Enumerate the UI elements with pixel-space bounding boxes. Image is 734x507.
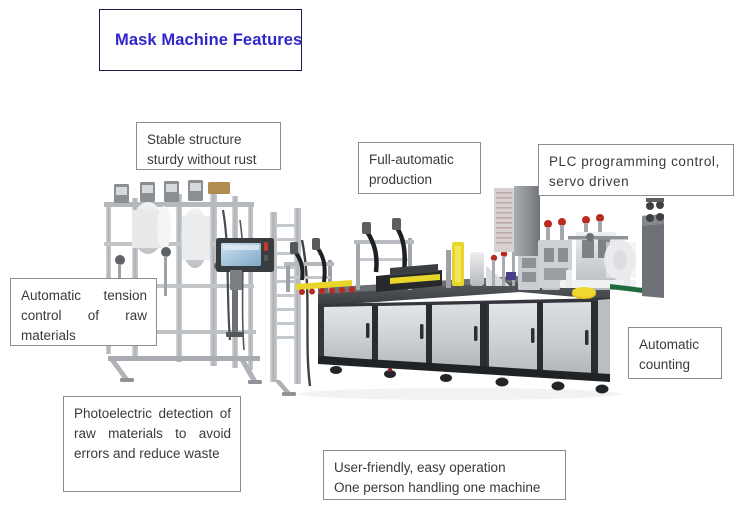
callout-photoelectric-detection: Photoelectric detection of raw materials… (63, 396, 241, 492)
callout-line: Automatic (639, 335, 712, 355)
welding-unit (538, 198, 664, 299)
callout-line: Photoelectric detection of raw materials… (74, 404, 231, 464)
callout-line: servo driven (549, 172, 724, 192)
callout-line: Automatic tension control of raw materia… (21, 286, 147, 346)
callout-automatic-tension: Automatic tension control of raw materia… (10, 278, 157, 346)
callout-user-friendly: User-friendly, easy operation One person… (323, 450, 566, 500)
machine-photo (90, 180, 670, 410)
callout-line: production (369, 170, 471, 190)
callout-line: User-friendly, easy operation (334, 458, 556, 478)
slide-canvas: Mask Machine Features (0, 0, 734, 507)
callout-full-automatic: Full-automatic production (358, 142, 481, 194)
callout-line: sturdy without rust (147, 150, 271, 170)
control-tower (494, 186, 540, 256)
callout-line: counting (639, 355, 712, 375)
callout-line: PLC programming control, (549, 152, 724, 172)
callout-stable-structure: Stable structure sturdy without rust (136, 122, 281, 170)
callout-line: One person handling one machine (334, 478, 556, 498)
callout-line: Full-automatic (369, 150, 471, 170)
callout-line: Stable structure (147, 130, 271, 150)
callout-plc-control: PLC programming control, servo driven (538, 144, 734, 196)
page-title: Mask Machine Features (115, 30, 302, 50)
ladder-frame (270, 208, 310, 396)
title-box: Mask Machine Features (99, 9, 302, 71)
callout-automatic-counting: Automatic counting (628, 327, 722, 379)
